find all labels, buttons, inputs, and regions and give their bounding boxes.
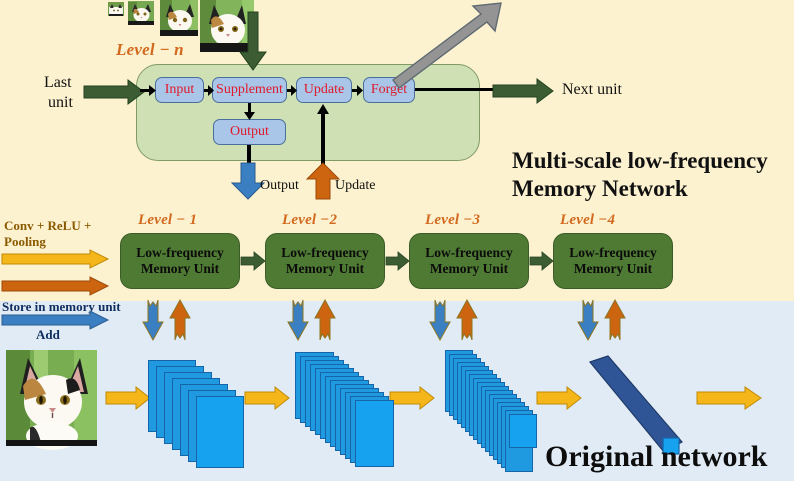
feature-map xyxy=(355,400,394,467)
add-arrow-down-stage-1 xyxy=(143,300,163,340)
legend-add-label: Add xyxy=(36,327,60,343)
last-unit-arrow xyxy=(84,80,146,104)
conv-arrow-1 xyxy=(106,387,150,409)
level-1-label: Level − 1 xyxy=(138,212,197,229)
arrow-update-to-forget xyxy=(352,85,363,96)
arrow-shell-to-input xyxy=(140,85,156,96)
store-arrow-up-stage-3 xyxy=(457,300,477,340)
forget-discard-arrow xyxy=(385,0,507,82)
gate-update[interactable]: Update xyxy=(296,77,352,103)
level-3-label: Level −3 xyxy=(425,212,480,229)
store-arrow-up-stage-4 xyxy=(605,300,625,340)
diagram-canvas: Level − n Last unit Input Supplement Upd… xyxy=(0,0,794,481)
line-update-upward xyxy=(321,113,325,168)
feature-map xyxy=(196,396,244,468)
gate-output[interactable]: Output xyxy=(213,119,286,145)
last-unit-label-line1: Last xyxy=(44,74,72,92)
add-arrow-down-stage-3 xyxy=(430,300,450,340)
memory-unit-level-3[interactable]: Low-frequency Memory Unit xyxy=(409,233,529,289)
memory-unit-level-4-line1: Low-frequency xyxy=(569,245,657,260)
store-arrow-up-stage-1 xyxy=(170,300,190,340)
memory-unit-level-1[interactable]: Low-frequency Memory Unit xyxy=(120,233,240,289)
network-title-line2: Memory Network xyxy=(512,176,688,202)
level-4-label: Level −4 xyxy=(560,212,615,229)
cat-thumbnail-2 xyxy=(128,1,154,25)
memory-unit-level-1-line2: Memory Unit xyxy=(141,261,219,276)
feature-map-stack-1 xyxy=(148,360,288,460)
arrowhead-update-into-gate xyxy=(317,104,329,115)
output-arrow-label: Output xyxy=(260,178,299,194)
cat-thumbnail-1 xyxy=(108,2,124,16)
gate-input[interactable]: Input xyxy=(155,77,204,103)
memory-unit-level-4[interactable]: Low-frequency Memory Unit xyxy=(553,233,673,289)
last-unit-label-line2: unit xyxy=(48,94,73,112)
conv-arrow-5 xyxy=(697,387,761,409)
level-n-label: Level − n xyxy=(116,40,184,60)
feature-map xyxy=(509,414,537,448)
line-forget-to-exit xyxy=(415,88,495,91)
memory-unit-level-1-line1: Low-frequency xyxy=(136,245,224,260)
arrow-level-1-to-2 xyxy=(241,252,265,270)
arrow-level-3-to-4 xyxy=(530,252,553,270)
memory-unit-level-2-line2: Memory Unit xyxy=(286,261,364,276)
level-2-label: Level −2 xyxy=(282,212,337,229)
original-network-title: Original network xyxy=(545,440,768,474)
memory-unit-level-4-line2: Memory Unit xyxy=(574,261,652,276)
next-unit-label: Next unit xyxy=(562,81,622,99)
arrow-input-to-supplement xyxy=(204,85,214,96)
legend-conv-line1: Conv + ReLU + xyxy=(4,218,91,234)
legend-conv-line2: Pooling xyxy=(4,234,46,250)
legend-conv-arrow xyxy=(2,250,108,268)
add-arrow-down-stage-2 xyxy=(288,300,308,340)
arrow-level-2-to-3 xyxy=(386,252,409,270)
memory-unit-level-3-line1: Low-frequency xyxy=(425,245,513,260)
next-unit-arrow xyxy=(493,79,555,103)
input-feed-down-arrow xyxy=(240,12,266,72)
memory-unit-level-2[interactable]: Low-frequency Memory Unit xyxy=(265,233,385,289)
store-arrow-up-stage-2 xyxy=(315,300,335,340)
memory-unit-level-3-line2: Memory Unit xyxy=(430,261,508,276)
legend-store-arrow xyxy=(2,277,108,295)
network-title-line1: Multi-scale low-frequency xyxy=(512,148,768,174)
memory-unit-level-2-line1: Low-frequency xyxy=(281,245,369,260)
feature-map-stack-2 xyxy=(295,352,445,462)
arrow-supplement-to-output xyxy=(244,103,255,120)
cat-thumbnail-3 xyxy=(160,0,198,36)
arrow-supplement-to-update xyxy=(287,85,297,96)
gate-supplement[interactable]: Supplement xyxy=(212,77,287,103)
add-arrow-down-stage-4 xyxy=(578,300,598,340)
input-cat-image xyxy=(6,350,97,446)
update-arrow-label: Update xyxy=(335,178,375,194)
